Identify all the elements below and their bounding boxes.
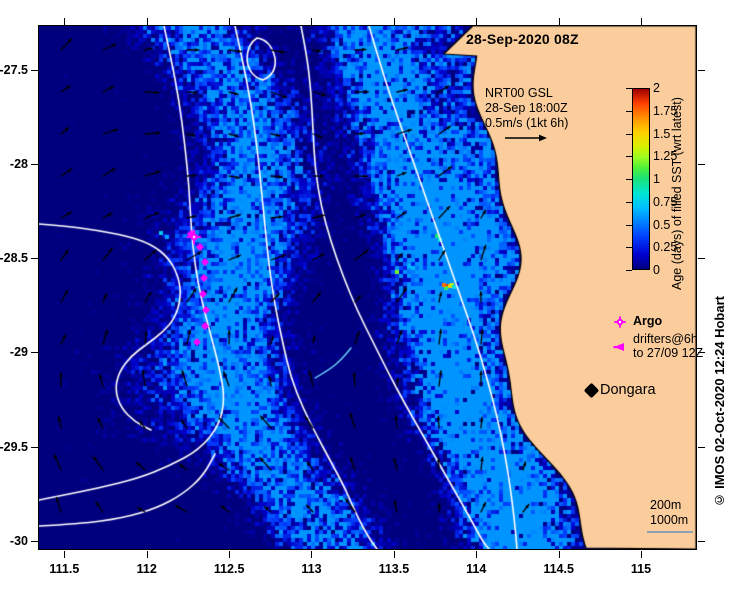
- x-axis-tick-top: [64, 18, 65, 25]
- colorbar-tick: [626, 270, 632, 271]
- y-axis-label: -29.5: [0, 440, 28, 454]
- y-axis-tick: [31, 447, 38, 448]
- scale-label-200m: 200m: [650, 498, 688, 513]
- x-axis-label: 113.5: [379, 562, 410, 576]
- x-axis-label: 112.5: [214, 562, 245, 576]
- scale-label-1000m: 1000m: [650, 513, 688, 528]
- x-axis-tick: [476, 551, 477, 558]
- x-axis-tick-top: [394, 18, 395, 25]
- colorbar-tick: [626, 88, 632, 89]
- x-axis-tick-top: [476, 18, 477, 25]
- colorbar-tick-label: 0.5: [653, 218, 670, 232]
- colorbar-tick: [626, 111, 632, 112]
- x-axis-tick-top: [147, 18, 148, 25]
- colorbar-tick: [626, 202, 632, 203]
- x-axis-label: 112: [137, 562, 157, 576]
- x-axis-tick: [229, 551, 230, 558]
- y-axis-tick-right: [698, 352, 705, 353]
- colorbar-tick-label: 1: [653, 172, 660, 186]
- x-axis-tick: [311, 551, 312, 558]
- x-axis-tick: [147, 551, 148, 558]
- drifter-legend-line-1: drifters@6h: [633, 332, 703, 346]
- vector-legend-line-1: NRT00 GSL: [485, 86, 568, 101]
- colorbar-tick: [626, 179, 632, 180]
- x-axis-label: 111.5: [49, 562, 79, 576]
- vector-scale-legend: NRT00 GSL 28-Sep 18:00Z 0.5m/s (1kt 6h): [485, 86, 568, 131]
- y-axis-tick-right: [698, 447, 705, 448]
- y-axis-label: -29: [10, 345, 28, 359]
- y-axis-label: -30: [10, 534, 28, 548]
- colorbar-tick: [626, 225, 632, 226]
- y-axis-tick: [31, 258, 38, 259]
- drifter-legend-line-2: to 27/09 12Z: [633, 346, 703, 360]
- x-axis-tick: [394, 551, 395, 558]
- colorbar-tick-label: 1.25: [653, 149, 677, 163]
- colorbar-tick-label: 2: [653, 81, 660, 95]
- imos-copyright-credit: © IMOS 02-Oct-2020 12:24 Hobart: [712, 296, 727, 508]
- y-axis-tick: [31, 70, 38, 71]
- x-axis-tick-top: [559, 18, 560, 25]
- colorbar-gradient: [632, 88, 650, 270]
- argo-float-marker-icon: [614, 316, 626, 328]
- y-axis-label: -28.5: [0, 251, 28, 265]
- sst-age-heatmap-canvas[interactable]: [39, 26, 696, 549]
- vector-legend-line-3: 0.5m/s (1kt 6h): [485, 116, 568, 131]
- vector-legend-line-2: 28-Sep 18:00Z: [485, 101, 568, 116]
- velocity-scale-arrow-icon: [505, 133, 547, 143]
- y-axis-label: -28: [10, 157, 28, 171]
- y-axis-tick-right: [698, 164, 705, 165]
- depth-scale-labels: 200m 1000m: [650, 498, 688, 528]
- map-plot-area[interactable]: [38, 25, 697, 550]
- y-axis-tick: [31, 541, 38, 542]
- y-axis-tick-right: [698, 541, 705, 542]
- y-axis-tick-right: [698, 258, 705, 259]
- map-datestamp: 28-Sep-2020 08Z: [466, 31, 579, 47]
- colorbar-tick-label: 0.75: [653, 195, 677, 209]
- y-axis-label: -27.5: [0, 63, 28, 77]
- x-axis-tick: [641, 551, 642, 558]
- figure-root: 28-Sep-2020 08Z NRT00 GSL 28-Sep 18:00Z …: [0, 0, 739, 592]
- x-axis-tick-top: [311, 18, 312, 25]
- y-axis-tick: [31, 352, 38, 353]
- x-axis-label: 114: [466, 562, 486, 576]
- dongara-label: Dongara: [600, 382, 656, 398]
- colorbar-tick-label: 0.25: [653, 240, 677, 254]
- argo-legend-label: Argo: [633, 314, 662, 328]
- y-axis-tick-right: [698, 70, 705, 71]
- y-axis-tick: [31, 164, 38, 165]
- colorbar-tick-label: 0: [653, 263, 660, 277]
- x-axis-label: 114.5: [543, 562, 574, 576]
- x-axis-tick-top: [229, 18, 230, 25]
- drifter-arrow-marker-icon: [613, 342, 625, 352]
- depth-scale-bar-icon: [647, 531, 693, 533]
- colorbar-tick: [626, 134, 632, 135]
- drifter-legend-label: drifters@6h to 27/09 12Z: [633, 332, 703, 360]
- colorbar-tick-label: 1.5: [653, 127, 670, 141]
- x-axis-tick: [64, 551, 65, 558]
- colorbar-tick: [626, 247, 632, 248]
- x-axis-label: 115: [631, 562, 651, 576]
- colorbar-tick: [626, 156, 632, 157]
- x-axis-tick: [559, 551, 560, 558]
- colorbar-tick-label: 1.75: [653, 104, 677, 118]
- x-axis-label: 113: [301, 562, 321, 576]
- x-axis-tick-top: [641, 18, 642, 25]
